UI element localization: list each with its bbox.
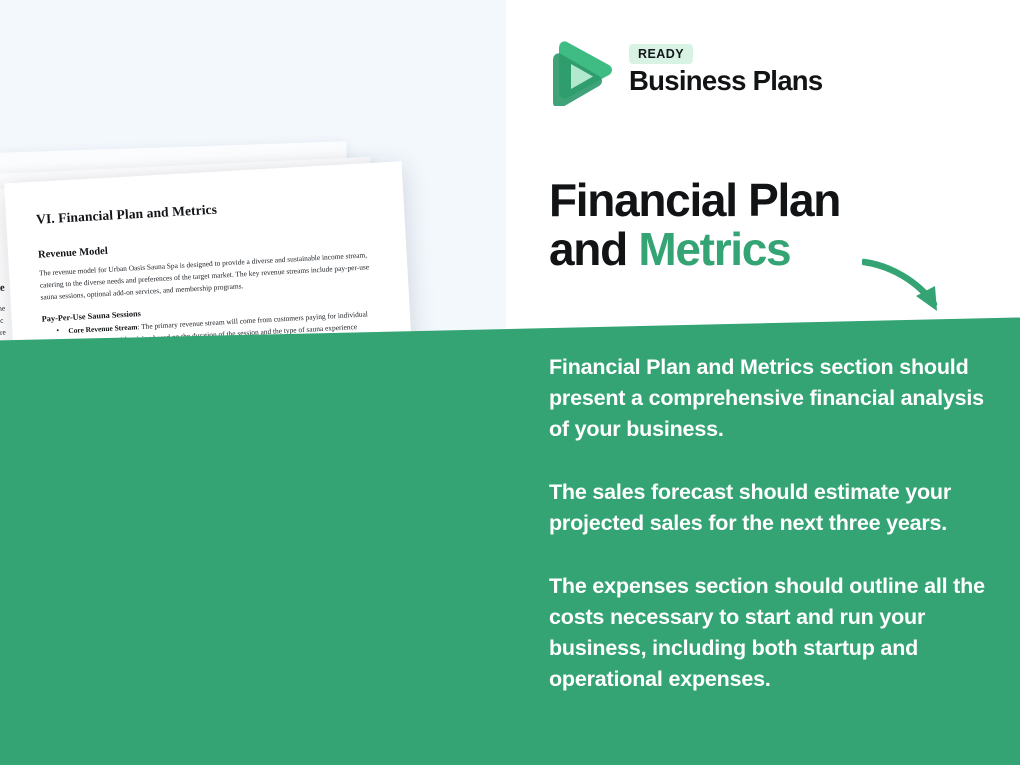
bullet-copy-block: Financial Plan and Metrics section shoul… (549, 352, 1001, 695)
brand-name: Business Plans (629, 67, 822, 96)
headline-line-1: Financial Plan (549, 176, 969, 225)
headline-prefix: and (549, 223, 638, 275)
ready-badge: READY (629, 44, 693, 64)
bullet-paragraph-1: Financial Plan and Metrics section shoul… (549, 352, 1001, 445)
slide-canvas: V Re The inc stre Pay Op M VI. Financial… (0, 0, 1020, 765)
list-item-term: Core Revenue Stream (68, 322, 138, 335)
document-title: VI. Financial Plan and Metrics (36, 192, 388, 228)
headline-accent: Metrics (638, 223, 790, 275)
brand-lockup[interactable]: READY Business Plans (549, 34, 822, 106)
curved-arrow-down-right-icon (862, 256, 966, 324)
bullet-paragraph-3: The expenses section should outline all … (549, 571, 1001, 695)
bullet-paragraph-2: The sales forecast should estimate your … (549, 477, 1001, 539)
play-triangle-logo-icon (549, 34, 615, 106)
brand-text: READY Business Plans (629, 44, 822, 96)
